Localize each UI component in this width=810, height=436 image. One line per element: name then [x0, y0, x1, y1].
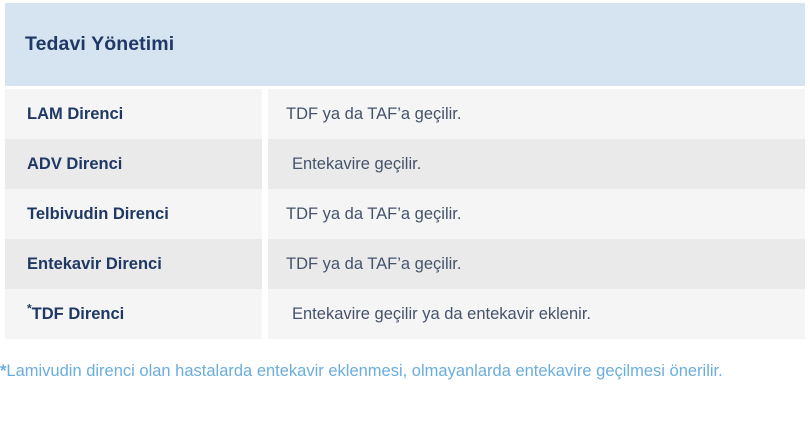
row-value: TDF ya da TAF’a geçilir. [268, 104, 805, 125]
row-value-cell: TDF ya da TAF’a geçilir. [268, 239, 805, 289]
treatment-management-table: Tedavi Yönetimi LAM Direnci TD [5, 3, 805, 339]
row-value: TDF ya da TAF’a geçilir. [268, 204, 805, 225]
row-label-cell: LAM Direnci [5, 89, 262, 139]
table-row: ADV Direnci Entekavire geçilir. [5, 139, 805, 189]
footnote-text: Lamivudin direnci olan hastalarda enteka… [6, 362, 722, 380]
table-row: Entekavir Direnci TDF ya da TAF’a geçili… [5, 239, 805, 289]
row-label-text: Telbivudin Direnci [27, 205, 169, 223]
row-label-text: Entekavir Direnci [27, 255, 162, 273]
row-value-cell: Entekavire geçilir ya da entekavir eklen… [268, 289, 805, 339]
footnote: *Lamivudin direnci olan hastalarda entek… [0, 358, 806, 385]
row-label: Entekavir Direnci [5, 254, 262, 275]
row-value: Entekavire geçilir. [268, 154, 805, 175]
table-row: *TDF Direnci Entekavire geçilir ya da en… [5, 289, 805, 339]
table-row: Telbivudin Direnci TDF ya da TAF’a geçil… [5, 189, 805, 239]
row-label: *TDF Direnci [5, 304, 262, 325]
table-row: LAM Direnci TDF ya da TAF’a geçilir. [5, 89, 805, 139]
row-label: ADV Direnci [5, 154, 262, 175]
row-label-cell: ADV Direnci [5, 139, 262, 189]
row-label-cell: Entekavir Direnci [5, 239, 262, 289]
row-label-cell: *TDF Direnci [5, 289, 262, 339]
row-label-text: ADV Direnci [27, 155, 122, 173]
row-value-cell: TDF ya da TAF’a geçilir. [268, 189, 805, 239]
row-value-cell: TDF ya da TAF’a geçilir. [268, 89, 805, 139]
row-label-text: TDF Direnci [32, 305, 125, 323]
row-label-cell: Telbivudin Direnci [5, 189, 262, 239]
row-value: TDF ya da TAF’a geçilir. [268, 254, 805, 275]
row-label-text: LAM Direnci [27, 105, 123, 123]
table-header-row: Tedavi Yönetimi [5, 3, 805, 86]
table-header: Tedavi Yönetimi [5, 3, 805, 89]
row-label: Telbivudin Direnci [5, 204, 262, 225]
treatment-management-table-figure: Tedavi Yönetimi LAM Direnci TD [0, 0, 810, 436]
row-value-cell: Entekavire geçilir. [268, 139, 805, 189]
row-value: Entekavire geçilir ya da entekavir eklen… [268, 304, 805, 325]
table-body: LAM Direnci TDF ya da TAF’a geçilir. ADV… [5, 89, 805, 339]
row-label: LAM Direnci [5, 104, 262, 125]
treatment-management-table-container: Tedavi Yönetimi LAM Direnci TD [5, 3, 805, 339]
table-header-cell: Tedavi Yönetimi [5, 3, 805, 86]
table-title: Tedavi Yönetimi [25, 33, 174, 55]
